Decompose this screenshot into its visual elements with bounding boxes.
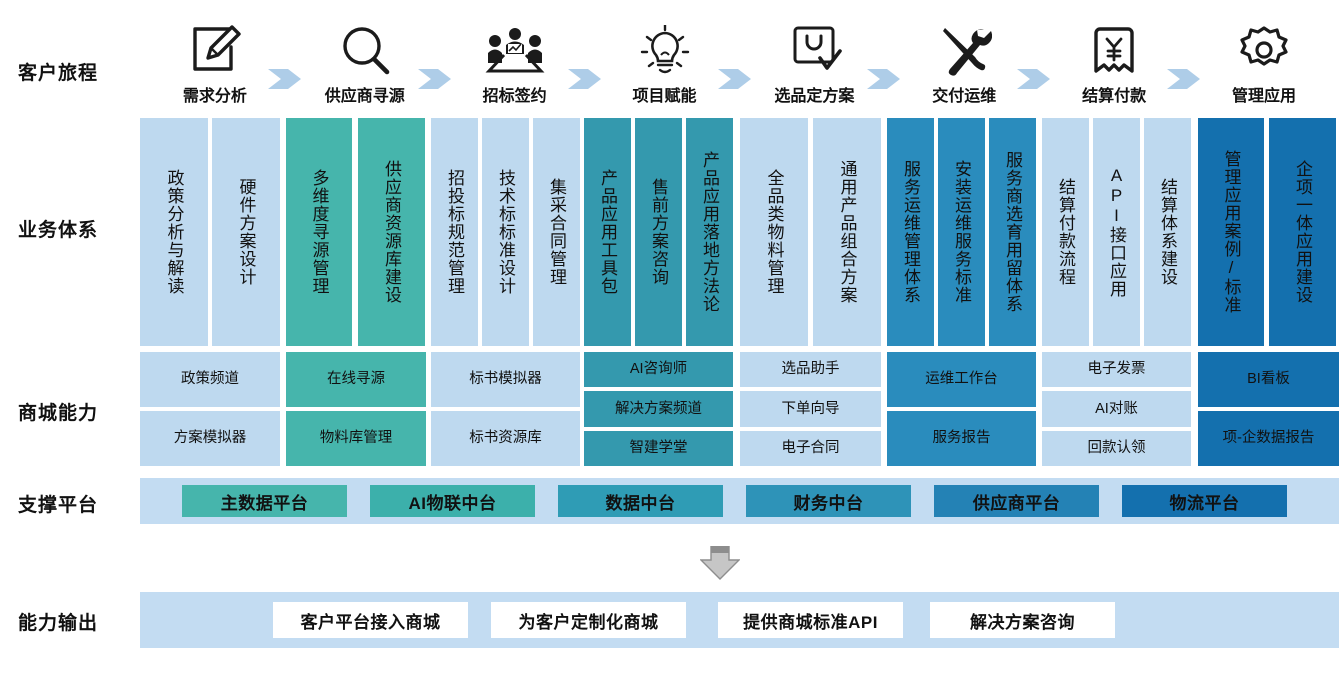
- business-system-column[interactable]: 通用产品组合方案: [813, 118, 881, 346]
- document-pencil-icon: [187, 22, 243, 80]
- mall-capability-item[interactable]: AI咨询师: [584, 352, 733, 387]
- customer-journey-row: 需求分析 供应商寻源 招标签约 项目赋能 选品定方案 交付运维: [140, 22, 1339, 112]
- mall-capability-item[interactable]: 物料库管理: [286, 411, 426, 466]
- mall-capability-group: 在线寻源物料库管理: [286, 352, 426, 466]
- journey-stage-label: 供应商寻源: [325, 82, 405, 106]
- capability-output-pill[interactable]: 提供商城标准API: [718, 602, 903, 638]
- business-system-column[interactable]: 政策分析与解读: [140, 118, 208, 346]
- mall-capability-item[interactable]: 项-企数据报告: [1198, 411, 1339, 466]
- support-platform-row: 主数据平台AI物联中台数据中台财务中台供应商平台物流平台: [140, 478, 1339, 524]
- mall-capability-group: BI看板项-企数据报告: [1198, 352, 1339, 466]
- mall-capability-item[interactable]: 服务报告: [887, 411, 1036, 466]
- business-system-column[interactable]: 服务运维管理体系: [887, 118, 934, 346]
- business-system-column[interactable]: 硬件方案设计: [212, 118, 280, 346]
- business-system-column[interactable]: 全品类物料管理: [740, 118, 808, 346]
- row-label-business-system: 业务体系: [18, 215, 98, 242]
- support-platform-pill[interactable]: 财务中台: [746, 485, 911, 517]
- journey-stage-label: 项目赋能: [633, 82, 697, 106]
- business-system-column[interactable]: 结算体系建设: [1144, 118, 1191, 346]
- mall-capability-group: 运维工作台服务报告: [887, 352, 1036, 466]
- journey-stage-label: 招标签约: [483, 82, 547, 106]
- business-system-column[interactable]: 技术标标准设计: [482, 118, 529, 346]
- wrench-screwdriver-icon: [936, 22, 992, 80]
- mall-capability-item[interactable]: BI看板: [1198, 352, 1339, 407]
- business-system-column[interactable]: 售前方案咨询: [635, 118, 682, 346]
- business-system-row: 政策分析与解读硬件方案设计多维度寻源管理供应商资源库建设招投标规范管理技术标标准…: [140, 118, 1339, 346]
- journey-stage-label: 选品定方案: [774, 82, 854, 106]
- business-system-column[interactable]: API接口应用: [1093, 118, 1140, 346]
- business-system-column[interactable]: 招投标规范管理: [431, 118, 478, 346]
- yuan-receipt-icon: [1086, 22, 1142, 80]
- journey-stage-label: 交付运维: [932, 82, 996, 106]
- business-system-column[interactable]: 产品应用工具包: [584, 118, 631, 346]
- row-label-mall-capability: 商城能力: [18, 398, 98, 425]
- support-platform-pill[interactable]: 主数据平台: [182, 485, 347, 517]
- capability-output-pill[interactable]: 客户平台接入商城: [273, 602, 468, 638]
- capability-output-pill[interactable]: 为客户定制化商城: [491, 602, 686, 638]
- architecture-diagram: 客户旅程 业务体系 商城能力 支撑平台 能力输出 需求分析 供应商寻源 招标签约…: [0, 0, 1339, 678]
- meeting-people-icon: [484, 22, 546, 80]
- mall-capability-item[interactable]: 回款认领: [1042, 431, 1191, 466]
- support-platform-pill[interactable]: AI物联中台: [370, 485, 535, 517]
- mall-capability-row: 政策频道方案模拟器在线寻源物料库管理标书模拟器标书资源库AI咨询师解决方案频道智…: [140, 352, 1339, 466]
- mall-capability-item[interactable]: 电子合同: [740, 431, 881, 466]
- capability-output-pill[interactable]: 解决方案咨询: [930, 602, 1115, 638]
- mall-capability-group: AI咨询师解决方案频道智建学堂: [584, 352, 733, 466]
- support-platform-pill[interactable]: 供应商平台: [934, 485, 1099, 517]
- business-system-column[interactable]: 管理应用案例/标准: [1198, 118, 1264, 346]
- mall-capability-group: 政策频道方案模拟器: [140, 352, 280, 466]
- mall-capability-item[interactable]: 政策频道: [140, 352, 280, 407]
- mall-capability-item[interactable]: 智建学堂: [584, 431, 733, 466]
- business-system-column[interactable]: 供应商资源库建设: [358, 118, 425, 346]
- checked-document-icon: [786, 22, 842, 80]
- business-system-column[interactable]: 服务商选育用留体系: [989, 118, 1036, 346]
- business-system-column[interactable]: 结算付款流程: [1042, 118, 1089, 346]
- journey-stage-label: 需求分析: [183, 82, 247, 106]
- row-label-support-platform: 支撑平台: [18, 490, 98, 517]
- support-platform-pill[interactable]: 数据中台: [558, 485, 723, 517]
- capability-output-row: 客户平台接入商城为客户定制化商城提供商城标准API解决方案咨询: [140, 592, 1339, 648]
- row-label-capability-output: 能力输出: [18, 608, 98, 635]
- business-system-column[interactable]: 产品应用落地方法论: [686, 118, 733, 346]
- mall-capability-item[interactable]: 标书模拟器: [431, 352, 580, 407]
- row-label-customer-journey: 客户旅程: [18, 58, 98, 85]
- mall-capability-item[interactable]: 电子发票: [1042, 352, 1191, 387]
- magnifier-icon: [337, 22, 393, 80]
- gear-icon: [1236, 22, 1292, 80]
- mall-capability-group: 标书模拟器标书资源库: [431, 352, 580, 466]
- mall-capability-item[interactable]: 下单向导: [740, 391, 881, 426]
- mall-capability-item[interactable]: 解决方案频道: [584, 391, 733, 426]
- journey-stage-label: 管理应用: [1232, 82, 1296, 106]
- mall-capability-item[interactable]: AI对账: [1042, 391, 1191, 426]
- business-system-column[interactable]: 集采合同管理: [533, 118, 580, 346]
- mall-capability-item[interactable]: 标书资源库: [431, 411, 580, 466]
- mall-capability-item[interactable]: 运维工作台: [887, 352, 1036, 407]
- down-arrow-icon: [700, 546, 740, 580]
- journey-stage-label: 结算付款: [1082, 82, 1146, 106]
- lightbulb-icon: [637, 22, 693, 80]
- journey-stage-8[interactable]: 管理应用: [1189, 22, 1339, 112]
- mall-capability-item[interactable]: 在线寻源: [286, 352, 426, 407]
- support-platform-pill[interactable]: 物流平台: [1122, 485, 1287, 517]
- mall-capability-group: 电子发票AI对账回款认领: [1042, 352, 1191, 466]
- business-system-column[interactable]: 多维度寻源管理: [286, 118, 352, 346]
- business-system-column[interactable]: 安装运维服务标准: [938, 118, 985, 346]
- mall-capability-item[interactable]: 方案模拟器: [140, 411, 280, 466]
- mall-capability-group: 选品助手下单向导电子合同: [740, 352, 881, 466]
- mall-capability-item[interactable]: 选品助手: [740, 352, 881, 387]
- business-system-column[interactable]: 企项一体应用建设: [1269, 118, 1336, 346]
